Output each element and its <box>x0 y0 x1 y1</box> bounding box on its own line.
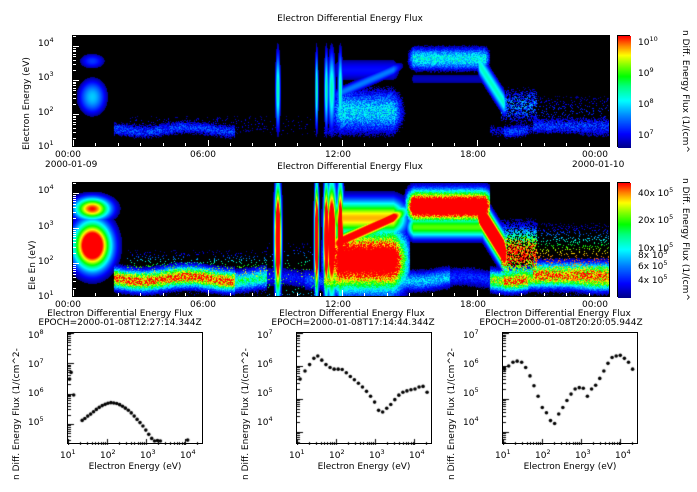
top-panel-title: Electron Differential Energy Flux <box>160 14 540 24</box>
axis-tick <box>208 290 209 296</box>
axis-tick <box>73 247 76 248</box>
axis-tick <box>185 143 186 146</box>
axis-tick <box>320 143 321 146</box>
spec3-ylabel: n Diff. Energy Flux (1/(cm^2- <box>447 348 457 480</box>
axis-tick <box>73 98 76 99</box>
axis-tick <box>73 281 76 282</box>
axis-tick <box>73 277 76 278</box>
axis-tick <box>73 138 76 139</box>
axis-tick <box>73 218 76 219</box>
axis-tick <box>73 56 76 57</box>
axis-tick <box>73 90 76 91</box>
axis-tick <box>477 140 478 146</box>
spec2-plot-area <box>296 332 432 444</box>
axis-tick <box>185 293 186 296</box>
axis-tick <box>73 119 76 120</box>
top-colorbar <box>617 35 630 147</box>
axis-tick <box>364 143 365 146</box>
axis-tick <box>73 64 76 65</box>
axis-tick <box>140 293 141 296</box>
spec2-ylabel: n Diff. Energy Flux (1/(cm^2- <box>241 348 251 480</box>
top-ytick-1e1: 101 <box>38 139 54 152</box>
axis-tick <box>73 212 76 213</box>
axis-tick <box>73 230 76 231</box>
axis-tick <box>73 122 76 123</box>
spec3-xtick-1e2: 102 <box>535 448 551 461</box>
spec1-xtick-1e3: 103 <box>140 448 156 461</box>
top-xtick-2: 12:00 <box>325 150 351 160</box>
axis-tick <box>477 290 478 296</box>
spec2-xtick-1e3: 103 <box>369 448 385 461</box>
top-xtick-0: 00:00 <box>55 150 81 160</box>
spec1-ytick-1e6: 106 <box>28 386 44 399</box>
spec2-xlabel: Electron Energy (eV) <box>284 462 444 472</box>
top-xtick-1: 06:00 <box>190 150 216 160</box>
axis-tick <box>454 293 455 296</box>
mid-cbtick-6: 6x 105 <box>638 259 668 272</box>
top-ytick-1e2: 102 <box>38 105 54 118</box>
axis-tick <box>73 60 76 61</box>
axis-tick <box>230 143 231 146</box>
axis-tick <box>73 228 79 229</box>
axis-tick <box>73 271 76 272</box>
spec2-ytick-1e6: 106 <box>257 357 273 370</box>
middle-panel-ylabel: Ele En (eV) <box>28 240 38 290</box>
axis-tick <box>73 124 76 125</box>
axis-tick <box>275 143 276 146</box>
axis-tick <box>409 143 410 146</box>
axis-tick <box>73 242 76 243</box>
mid-cbtick-20: 20x 105 <box>638 213 673 226</box>
axis-tick <box>387 143 388 146</box>
axis-tick <box>73 104 76 105</box>
axis-tick <box>566 143 567 146</box>
axis-tick <box>73 274 76 275</box>
top-colorbar-label-wrap: n Diff. Energy Flux (1/(cm^ <box>690 30 697 40</box>
axis-tick <box>73 83 76 84</box>
spec3-ytick-1e7: 107 <box>463 328 479 341</box>
middle-colorbar <box>617 182 630 297</box>
axis-tick <box>73 236 76 237</box>
axis-tick <box>342 140 343 146</box>
axis-tick <box>320 293 321 296</box>
spec1-ytick-1e8: 108 <box>28 328 44 341</box>
axis-tick <box>163 143 164 146</box>
axis-tick <box>73 88 76 89</box>
axis-tick <box>73 232 76 233</box>
mid-ytick-1e4: 104 <box>38 183 54 196</box>
axis-tick <box>499 143 500 146</box>
middle-spectrogram-image <box>72 182 610 297</box>
axis-tick <box>73 116 76 117</box>
spec2-xtick-1e2: 102 <box>329 448 345 461</box>
spec1-ylabel: n Diff. Energy Flux (1/(cm^2- <box>12 348 22 480</box>
spec1-ylabel-wrap: n Diff. Energy Flux (1/(cm^2- <box>12 480 144 490</box>
axis-tick <box>73 234 76 235</box>
panel-spectrum-3: Electron Differential Energy Flux EPOCH=… <box>445 300 697 492</box>
spec2-xtick-1e1: 101 <box>289 448 305 461</box>
spec1-xtick-1e2: 102 <box>100 448 116 461</box>
axis-tick <box>73 199 76 200</box>
axis-tick <box>73 207 76 208</box>
top-xtick-4: 00:00 <box>582 150 608 160</box>
axis-tick <box>73 253 76 254</box>
mid-ytick-1e2: 102 <box>38 254 54 267</box>
axis-tick <box>589 293 590 296</box>
axis-tick <box>73 128 76 129</box>
top-ytick-1e3: 103 <box>38 70 54 83</box>
spec1-ytick-1e7: 107 <box>28 357 44 370</box>
top-xtick-3: 18:00 <box>460 150 486 160</box>
axis-tick <box>589 143 590 146</box>
spec3-ytick-1e6: 106 <box>463 357 479 370</box>
spec3-subtitle: EPOCH=2000-01-08T20:20:05.944Z <box>451 318 671 328</box>
spec2-ytick-1e7: 107 <box>257 328 273 341</box>
axis-tick <box>73 201 76 202</box>
spec2-ytick-1e5: 105 <box>257 386 273 399</box>
axis-tick <box>73 195 76 196</box>
spec3-xtick-1e1: 101 <box>495 448 511 461</box>
top-colorbar-label: n Diff. Energy Flux (1/(cm^ <box>680 30 690 153</box>
middle-panel-title: Electron Differential Energy Flux <box>160 162 540 172</box>
axis-tick <box>73 51 76 52</box>
spec2-ytick-1e4: 104 <box>257 415 273 428</box>
axis-tick <box>73 80 79 81</box>
axis-tick <box>73 50 76 51</box>
spec1-xtick-1e1: 101 <box>60 448 76 461</box>
axis-tick <box>342 290 343 296</box>
spec3-xtick-1e3: 103 <box>575 448 591 461</box>
panel-top-spectrogram: Electron Differential Energy Flux Electr… <box>0 0 697 175</box>
axis-tick <box>208 140 209 146</box>
axis-tick <box>230 293 231 296</box>
top-ytick-1e4: 104 <box>38 36 54 49</box>
axis-tick <box>521 143 522 146</box>
axis-tick <box>73 288 76 289</box>
axis-tick <box>118 293 119 296</box>
axis-tick <box>454 143 455 146</box>
spec3-xlabel: Electron Energy (eV) <box>490 462 650 472</box>
axis-tick <box>73 94 76 95</box>
spec3-xtick-1e4: 104 <box>615 448 631 461</box>
axis-tick <box>95 293 96 296</box>
axis-tick <box>409 293 410 296</box>
axis-tick <box>73 204 76 205</box>
axis-tick <box>95 143 96 146</box>
axis-tick <box>73 117 76 118</box>
axis-tick <box>566 293 567 296</box>
spec3-ytick-1e5: 105 <box>463 386 479 399</box>
axis-tick <box>140 143 141 146</box>
top-panel-ylabel: Electron Energy (eV) <box>22 57 32 150</box>
top-cbtick-1e9: 109 <box>638 66 654 79</box>
spec1-xlabel: Electron Energy (eV) <box>55 462 215 472</box>
spec2-ylabel-wrap: n Diff. Energy Flux (1/(cm^2- <box>241 480 373 490</box>
axis-tick <box>297 293 298 296</box>
axis-tick <box>544 293 545 296</box>
axis-tick <box>163 293 164 296</box>
spec1-ytick-1e5: 105 <box>28 415 44 428</box>
spec2-xtick-1e4: 104 <box>409 448 425 461</box>
axis-tick <box>73 82 76 83</box>
axis-tick <box>73 54 76 55</box>
top-spectrogram-image <box>72 35 610 147</box>
axis-tick <box>73 70 76 71</box>
top-cbtick-1e10: 1010 <box>638 35 658 48</box>
middle-colorbar-label: n Diff. Energy Flux (1/(cm^ <box>680 178 690 301</box>
axis-tick <box>73 290 74 296</box>
axis-tick <box>73 269 76 270</box>
mid-ytick-1e3: 103 <box>38 219 54 232</box>
axis-tick <box>432 143 433 146</box>
axis-tick <box>252 143 253 146</box>
axis-tick <box>118 143 119 146</box>
axis-tick <box>73 85 76 86</box>
axis-tick <box>432 293 433 296</box>
axis-tick <box>387 293 388 296</box>
middle-colorbar-label-wrap: n Diff. Energy Flux (1/(cm^ <box>690 178 697 188</box>
spec1-subtitle: EPOCH=2000-01-08T12:27:14.344Z <box>10 318 230 328</box>
axis-tick <box>73 36 76 37</box>
axis-tick <box>73 197 76 198</box>
spec3-ytick-1e4: 104 <box>463 415 479 428</box>
spec2-subtitle: EPOCH=2000-01-08T17:14:44.344Z <box>243 318 463 328</box>
axis-tick <box>73 132 76 133</box>
axis-tick <box>73 140 74 146</box>
axis-tick <box>499 293 500 296</box>
axis-tick <box>544 143 545 146</box>
axis-tick <box>521 293 522 296</box>
axis-tick <box>73 183 76 184</box>
axis-tick <box>73 263 79 264</box>
axis-tick <box>364 293 365 296</box>
axis-tick <box>73 114 79 115</box>
top-cbtick-1e7: 107 <box>638 128 654 141</box>
mid-cbtick-40: 40x 105 <box>638 186 673 199</box>
panel-spectrum-2: Electron Differential Energy Flux EPOCH=… <box>235 300 467 492</box>
spec3-plot-area <box>502 332 638 444</box>
mid-cbtick-4: 4x 105 <box>638 273 668 286</box>
axis-tick <box>73 48 76 49</box>
axis-tick <box>252 293 253 296</box>
axis-tick <box>297 143 298 146</box>
axis-tick <box>275 293 276 296</box>
panel-middle-spectrogram: Electron Differential Energy Flux Ele En… <box>0 160 697 320</box>
axis-tick <box>73 239 76 240</box>
axis-tick <box>73 265 76 266</box>
axis-tick <box>73 267 76 268</box>
spec3-ylabel-wrap: n Diff. Energy Flux (1/(cm^2- <box>447 480 579 490</box>
axis-tick <box>73 193 79 194</box>
spec1-plot-area <box>67 332 203 444</box>
top-cbtick-1e8: 108 <box>638 97 654 110</box>
panel-spectrum-1: Electron Differential Energy Flux EPOCH=… <box>0 300 235 492</box>
spec1-xtick-1e4: 104 <box>180 448 196 461</box>
axis-tick <box>73 46 79 47</box>
